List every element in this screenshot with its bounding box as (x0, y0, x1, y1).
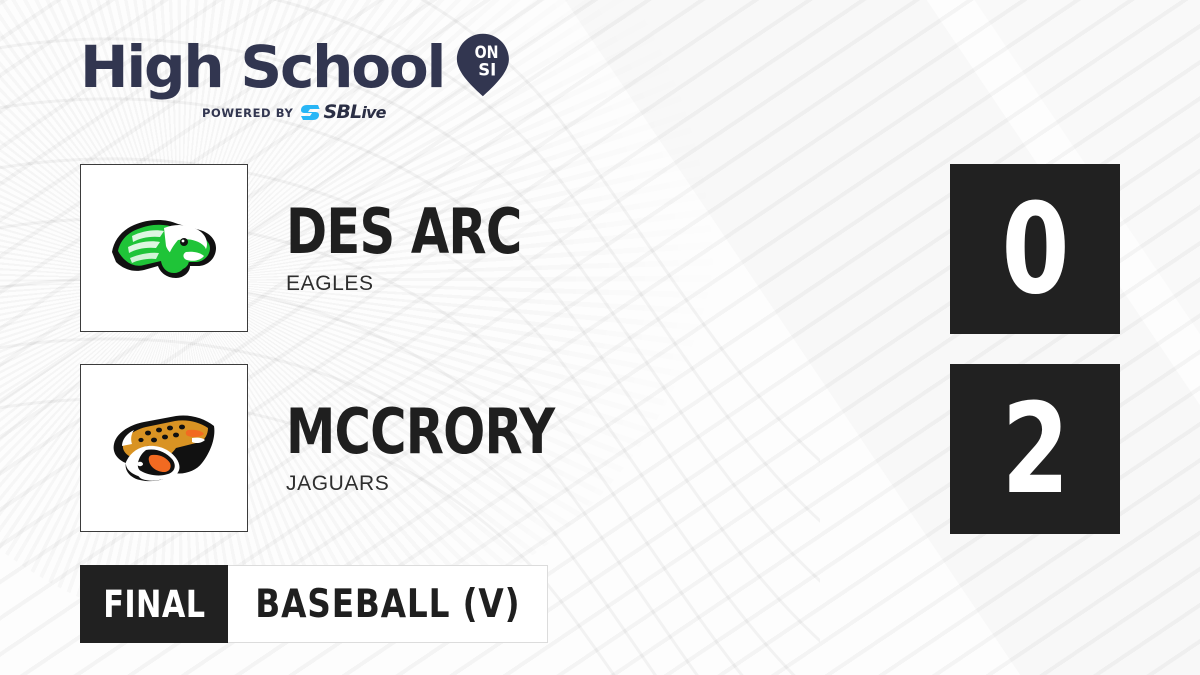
team-logo-box (80, 164, 248, 332)
game-state-label: FINAL (103, 586, 205, 623)
team-score-box: 0 (950, 164, 1120, 334)
team-score-box: 2 (950, 364, 1120, 534)
sblive-logo: SBLive (300, 104, 385, 121)
on-si-pin-badge-icon: ON SI (456, 28, 510, 102)
brand-title: High School (80, 38, 444, 96)
sport-label: BASEBALL (V) (255, 585, 520, 624)
sblive-s-icon (300, 104, 320, 121)
team-text-block: MCCRORY JAGUARS (286, 364, 621, 534)
team-name: MCCRORY (286, 402, 554, 462)
team-row: DES ARC EAGLES 0 (80, 164, 1120, 334)
sblive-word-tail: ive (361, 103, 385, 122)
team-logo-box (80, 364, 248, 532)
sblive-word-main: SBL (323, 101, 361, 123)
powered-by-label: POWERED BY (202, 106, 293, 120)
sport-block: BASEBALL (V) (228, 565, 548, 643)
brand-title-row: High School ON SI (80, 36, 510, 98)
team-mascot: JAGUARS (286, 472, 621, 496)
game-scorecard: High School ON SI POWERED BY (0, 0, 1200, 675)
team-name: DES ARC (286, 202, 521, 262)
team-row: MCCRORY JAGUARS 2 (80, 364, 1120, 534)
svg-text:ON: ON (475, 43, 499, 62)
brand-header: High School ON SI POWERED BY (80, 36, 510, 136)
powered-by-row: POWERED BY SBLive (80, 104, 510, 121)
game-status-bar: FINAL BASEBALL (V) (80, 565, 548, 643)
jaguar-head-logo-icon (104, 400, 224, 496)
team-score: 0 (1001, 187, 1069, 312)
sblive-wordmark: SBLive (323, 104, 385, 121)
svg-text:SI: SI (478, 60, 496, 79)
team-score: 2 (1001, 387, 1069, 512)
team-mascot: EAGLES (286, 272, 580, 296)
eagle-head-logo-icon (104, 200, 224, 296)
team-text-block: DES ARC EAGLES (286, 164, 580, 334)
game-state-block: FINAL (80, 565, 228, 643)
